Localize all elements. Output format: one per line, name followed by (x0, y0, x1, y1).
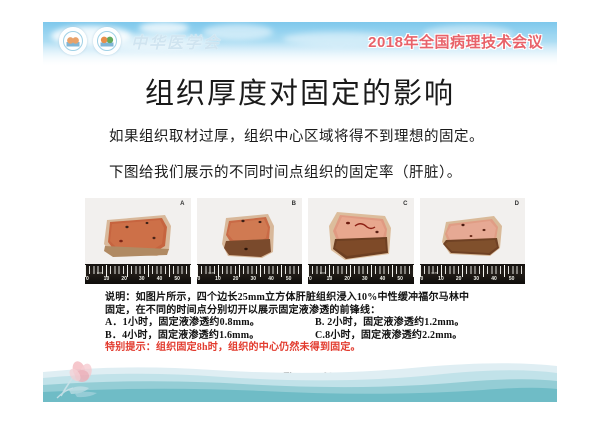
panel-label: B (292, 201, 296, 207)
ruler-numbers: 0 10 20 30 40 50 (197, 275, 303, 283)
liver-tissue-specimen (323, 206, 399, 268)
caption-item-b: B. 2小时，固定液渗透约1.2mm。 (315, 317, 525, 330)
ruler-numbers: 0 10 20 30 40 50 (85, 275, 191, 283)
body-paragraph-1: 如果组织取材过厚，组织中心区域将得不到理想的固定。 (109, 125, 484, 146)
panel-label: C (403, 201, 407, 207)
tissue-panel: C mm 0 10 20 30 40 (308, 198, 414, 284)
caption-warning: 特别提示：组织固定8h时，组织的中心仍然未得到固定。 (105, 342, 529, 355)
panel-label: A (180, 201, 184, 207)
panel-label: D (515, 201, 519, 207)
body-paragraph-2: 下图给我们展示的不同时间点组织的固定率（肝脏）。 (109, 161, 462, 182)
mm-ruler: mm 0 10 20 30 40 50 (85, 264, 191, 284)
slide-footer-waves (43, 358, 557, 402)
organization-name: 中华医学会 (131, 29, 221, 53)
liver-tissue-specimen (216, 208, 282, 264)
tissue-panel: D mm 0 10 20 30 40 (420, 198, 526, 284)
tissue-figure: A mm 0 10 20 30 40 (85, 198, 525, 284)
wave-decoration (43, 358, 557, 402)
slide-header-banner: 中华医学会 2018年全国病理技术会议 (43, 22, 557, 66)
caption-item-c: B．4小时，固定液渗透约1.6mm。 (105, 330, 315, 343)
tissue-panel: A mm 0 10 20 30 40 (85, 198, 191, 284)
liver-tissue-specimen (436, 212, 508, 264)
caption-line-2: 固定，在不同的时间点分别切开以展示固定液渗透的前锋线： (105, 305, 529, 318)
pathology-society-emblem-icon (93, 27, 121, 55)
slide-title: 组织厚度对固定的影响 (43, 70, 557, 112)
conference-title: 2018年全国病理技术会议 (368, 31, 543, 52)
ruler-numbers: 0 10 20 30 40 50 (308, 275, 414, 283)
mm-ruler: mm 0 10 20 30 40 50 (308, 264, 414, 284)
caption-item-d: C.8小时，固定液渗透约2.2mm。 (315, 330, 525, 343)
caption-item-a: A．1小时，固定液渗透约0.8mm。 (105, 317, 315, 330)
lotus-flower-decoration (55, 360, 113, 400)
ruler-numbers: 0 10 20 30 40 50 (420, 275, 526, 283)
mm-ruler: mm 0 10 20 30 40 50 (420, 264, 526, 284)
medical-association-emblem-icon (59, 27, 87, 55)
figure-caption: 说明：如图片所示，四个边长25mm立方体肝脏组织浸入10%中性缓冲福尔马林中 固… (105, 292, 529, 355)
caption-line-1: 说明：如图片所示，四个边长25mm立方体肝脏组织浸入10%中性缓冲福尔马林中 (105, 292, 529, 305)
mm-ruler: mm 0 10 20 30 40 50 (197, 264, 303, 284)
tissue-panel: B mm 0 10 20 30 40 50 (197, 198, 303, 284)
caption-row-1: A．1小时，固定液渗透约0.8mm。 B. 2小时，固定液渗透约1.2mm。 (105, 317, 529, 330)
organization-logos: 中华医学会 (59, 27, 221, 55)
liver-tissue-specimen (99, 210, 177, 262)
caption-row-2: B．4小时，固定液渗透约1.6mm。 C.8小时，固定液渗透约2.2mm。 (105, 330, 529, 343)
presentation-slide: 中华医学会 2018年全国病理技术会议 组织厚度对固定的影响 如果组织取材过厚，… (43, 22, 557, 402)
